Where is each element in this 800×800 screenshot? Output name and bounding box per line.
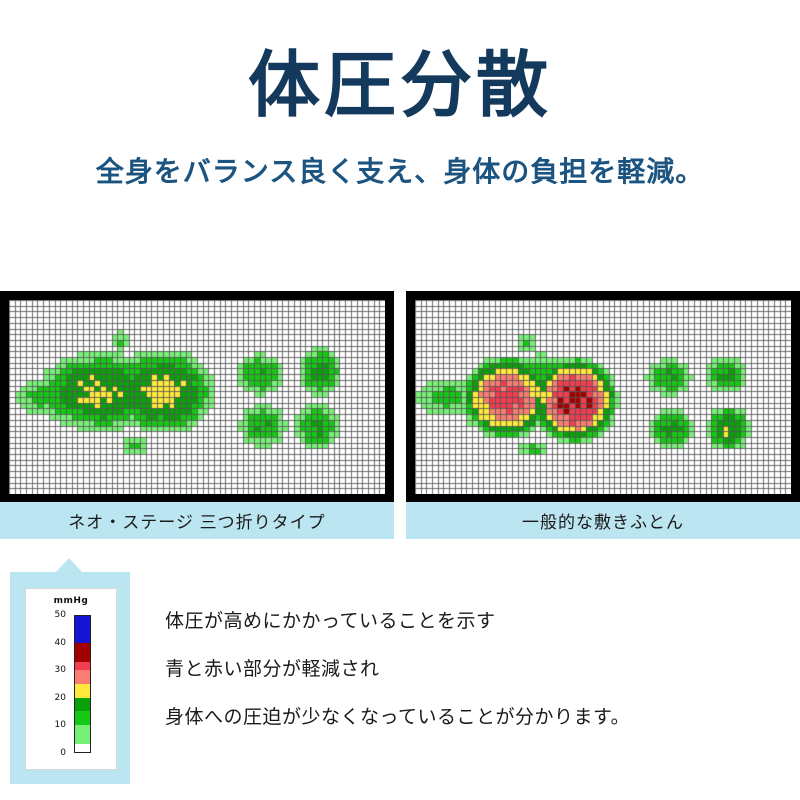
legend-tick-0: 0 bbox=[60, 748, 66, 758]
page-title: 体圧分散 bbox=[0, 50, 800, 122]
legend-pointer-triangle bbox=[56, 558, 82, 572]
legend-card: mmHg 50403020100 bbox=[25, 588, 117, 770]
legend-band-10-3 bbox=[75, 725, 90, 744]
legend-outer-box: mmHg 50403020100 bbox=[10, 572, 130, 784]
body-line-1: 体圧が高めにかかっていることを示す bbox=[165, 612, 765, 633]
legend-band-25-20 bbox=[75, 684, 90, 698]
panel-neo-stage bbox=[0, 291, 394, 503]
pressure-map-canvas-right bbox=[415, 300, 791, 494]
legend-body: 50403020100 bbox=[26, 615, 116, 757]
legend-tick-10: 10 bbox=[55, 720, 66, 730]
legend-unit-label: mmHg bbox=[26, 596, 116, 606]
legend-tick-50: 50 bbox=[55, 610, 66, 620]
legend-tick-20: 20 bbox=[55, 693, 66, 703]
panel-standard-futon bbox=[406, 291, 800, 503]
pressure-distribution-page: 体圧分散 全身をバランス良く支え、身体の負担を軽減。 ネオ・ステージ 三つ折りタ… bbox=[0, 0, 800, 800]
body-line-2: 青と赤い部分が軽減され bbox=[165, 660, 765, 681]
header: 体圧分散 全身をバランス良く支え、身体の負担を軽減。 bbox=[0, 0, 800, 186]
legend: mmHg 50403020100 bbox=[10, 572, 130, 784]
legend-tick-30: 30 bbox=[55, 665, 66, 675]
legend-tick-labels: 50403020100 bbox=[26, 615, 70, 753]
page-subtitle: 全身をバランス良く支え、身体の負担を軽減。 bbox=[0, 122, 800, 186]
body-text-block: 体圧が高めにかかっていることを示す 青と赤い部分が軽減され 身体への圧迫が少なく… bbox=[165, 612, 765, 729]
pressure-map-canvas-left bbox=[9, 300, 385, 494]
legend-band-30-25 bbox=[75, 670, 90, 684]
legend-band-15-10 bbox=[75, 711, 90, 725]
legend-band-20-15 bbox=[75, 698, 90, 712]
legend-band-3-0 bbox=[75, 744, 90, 752]
legend-band-50-40 bbox=[75, 616, 90, 643]
legend-band-33-30 bbox=[75, 662, 90, 670]
caption-standard-futon: 一般的な敷きふとん bbox=[406, 502, 800, 539]
pressure-map-neo-stage bbox=[9, 300, 385, 494]
body-line-3: 身体への圧迫が少なくなっていることが分かります。 bbox=[165, 708, 765, 729]
caption-bars: ネオ・ステージ 三つ折りタイプ 一般的な敷きふとん bbox=[0, 502, 800, 539]
legend-color-bar bbox=[74, 615, 91, 753]
pressure-map-standard-futon bbox=[415, 300, 791, 494]
legend-tick-40: 40 bbox=[55, 638, 66, 648]
legend-band-40-33 bbox=[75, 643, 90, 662]
caption-neo-stage: ネオ・ステージ 三つ折りタイプ bbox=[0, 502, 394, 539]
pressure-map-panels bbox=[0, 291, 800, 503]
